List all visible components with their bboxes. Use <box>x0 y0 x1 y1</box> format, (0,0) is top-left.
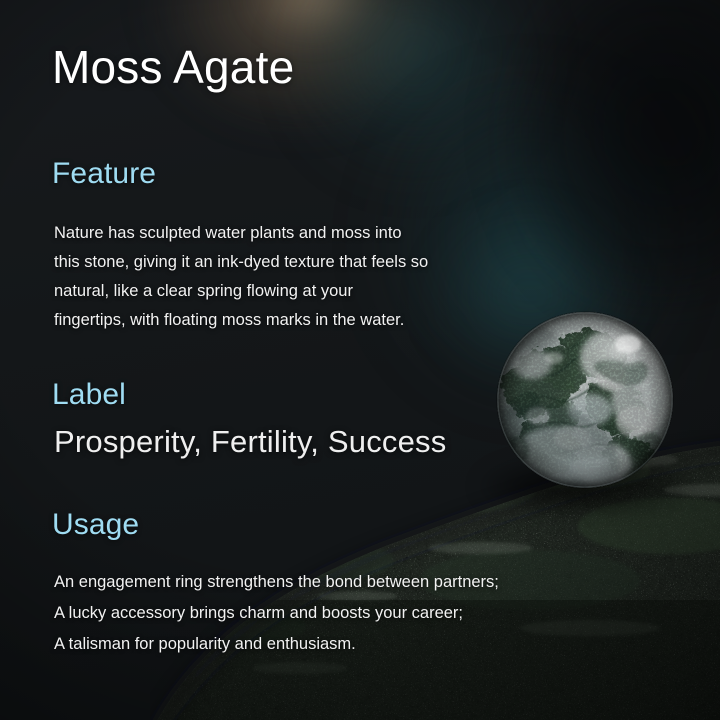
label-heading: Label <box>52 378 126 412</box>
usage-line-1: An engagement ring strengthens the bond … <box>54 567 499 598</box>
feature-paragraph: Nature has sculpted water plants and mos… <box>54 219 428 335</box>
feature-line-2: this stone, giving it an ink-dyed textur… <box>54 248 428 277</box>
label-value: Prosperity, Fertility, Success <box>54 424 446 460</box>
usage-line-2: A lucky accessory brings charm and boost… <box>54 598 499 629</box>
feature-heading: Feature <box>52 157 156 191</box>
usage-paragraph: An engagement ring strengthens the bond … <box>54 567 499 660</box>
text-content: Moss Agate Feature Nature has sculpted w… <box>0 0 720 720</box>
usage-line-3: A talisman for popularity and enthusiasm… <box>54 629 499 660</box>
feature-line-3: natural, like a clear spring flowing at … <box>54 277 428 306</box>
feature-line-4: fingertips, with floating moss marks in … <box>54 306 428 335</box>
product-card: Moss Agate Feature Nature has sculpted w… <box>0 0 720 720</box>
page-title: Moss Agate <box>52 40 294 94</box>
feature-line-1: Nature has sculpted water plants and mos… <box>54 219 428 248</box>
usage-heading: Usage <box>52 508 139 542</box>
